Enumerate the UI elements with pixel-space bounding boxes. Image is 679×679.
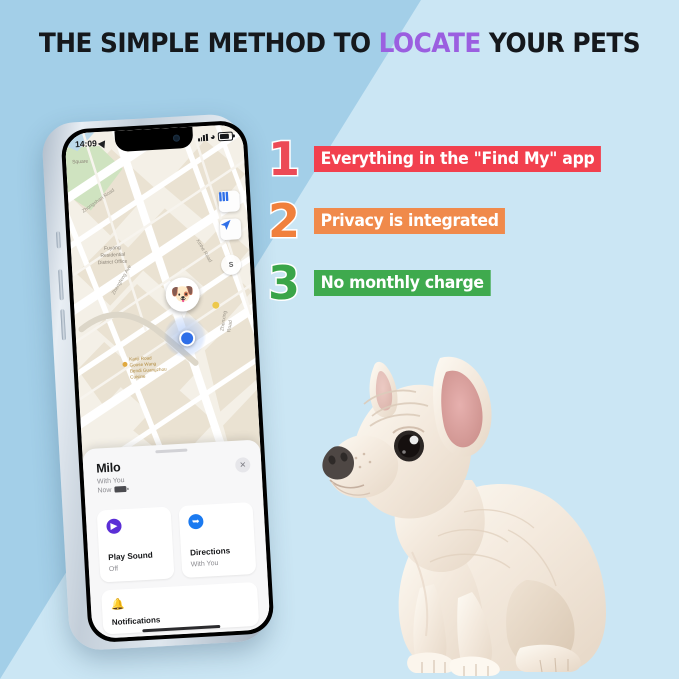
- pin-bubble: 🐶: [165, 277, 201, 313]
- feature-number-1: 1: [268, 136, 314, 182]
- wifi-icon: ◕: [210, 132, 216, 141]
- sheet-grabber[interactable]: [155, 449, 187, 454]
- directions-icon: ➥: [188, 514, 204, 530]
- feature-label-3: No monthly charge: [314, 270, 490, 296]
- pet-location-pin[interactable]: 🐶: [165, 277, 201, 321]
- pet-detail-sheet: Milo With You Now ✕ ▶: [82, 439, 270, 639]
- map-poi-line-4: Cuisine: [130, 374, 146, 381]
- action-tiles: ▶ Play Sound Off ➥ Directions With You: [97, 502, 257, 583]
- phone-screen: 14:09 ◕: [60, 120, 274, 644]
- directions-subtitle: With You: [191, 560, 219, 569]
- pet-status: With You: [97, 476, 126, 485]
- volume-down-button[interactable]: [60, 309, 66, 340]
- mute-switch[interactable]: [56, 231, 61, 248]
- sheet-header: Milo With You Now: [96, 460, 127, 494]
- pet-last-seen: Now: [97, 486, 111, 494]
- close-sheet-button[interactable]: ✕: [235, 457, 251, 473]
- title-accent-word: LOCATE: [379, 28, 481, 59]
- feature-list: 1 Everything in the "Find My" app 2 Priv…: [268, 128, 679, 314]
- french-bulldog-illustration: [312, 330, 612, 679]
- map-layers-icon: [218, 191, 230, 203]
- status-time: 14:09: [75, 138, 97, 149]
- feature-row-3: 3 No monthly charge: [268, 252, 679, 314]
- title-part-2: YOUR PETS: [481, 28, 640, 59]
- feature-label-1: Everything in the "Find My" app: [314, 146, 601, 172]
- directions-tile[interactable]: ➥ Directions With You: [178, 502, 256, 578]
- battery-icon: [218, 131, 233, 141]
- map-view[interactable]: Square Fuyang Residential District Offic…: [65, 124, 262, 473]
- feature-label-2: Privacy is integrated: [314, 208, 505, 234]
- bell-icon: 🔔: [110, 596, 125, 611]
- map-label-square: Square: [72, 159, 88, 166]
- close-icon: ✕: [239, 460, 246, 469]
- locate-me-icon: [220, 219, 233, 232]
- play-sound-title: Play Sound: [108, 551, 153, 562]
- location-arrow-icon: [98, 138, 109, 148]
- locate-me-button[interactable]: [220, 218, 242, 240]
- front-camera-icon: [173, 134, 180, 141]
- pet-name: Milo: [96, 460, 126, 476]
- phone-notch: [114, 127, 193, 152]
- feature-row-1: 1 Everything in the "Find My" app: [268, 128, 679, 190]
- poster-canvas: THE SIMPLE METHOD TO LOCATE YOUR PETS 1 …: [0, 0, 679, 679]
- feature-row-2: 2 Privacy is integrated: [268, 190, 679, 252]
- play-sound-tile[interactable]: ▶ Play Sound Off: [97, 507, 175, 583]
- notifications-title: Notifications: [112, 615, 161, 627]
- title-part-1: THE SIMPLE METHOD TO: [39, 28, 379, 59]
- status-bar-right: ◕: [197, 131, 233, 142]
- play-sound-icon: ▶: [106, 518, 122, 534]
- map-layers-button[interactable]: [218, 190, 240, 212]
- pet-battery-icon: [114, 486, 126, 493]
- compass-label: S: [229, 261, 234, 268]
- feature-number-2: 2: [268, 198, 314, 244]
- screen-content: 14:09 ◕: [65, 124, 271, 639]
- page-title: THE SIMPLE METHOD TO LOCATE YOUR PETS: [27, 28, 652, 59]
- dog-photo: [312, 330, 612, 679]
- phone-body: 14:09 ◕: [41, 113, 270, 651]
- map-graphics: [65, 124, 262, 473]
- dog-avatar-pin: 🐶: [170, 284, 195, 304]
- feature-number-3: 3: [268, 260, 314, 306]
- play-sound-subtitle: Off: [109, 566, 119, 574]
- cellular-signal-icon: [198, 133, 208, 141]
- phone-mockup: 14:09 ◕: [29, 112, 289, 669]
- directions-title: Directions: [190, 546, 230, 557]
- pet-last-seen-row: Now: [97, 485, 126, 494]
- volume-up-button[interactable]: [58, 269, 64, 300]
- status-bar-left: 14:09: [75, 138, 107, 150]
